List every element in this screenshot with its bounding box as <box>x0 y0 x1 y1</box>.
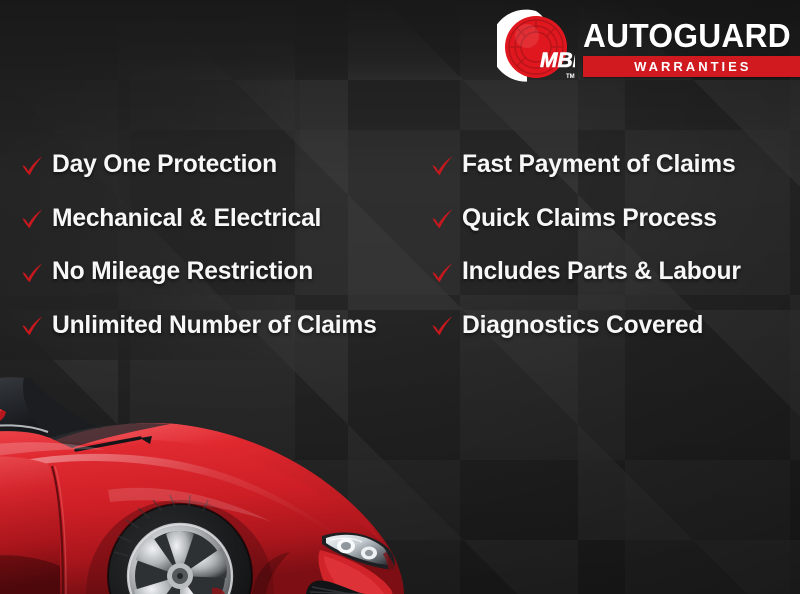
check-icon <box>20 153 44 179</box>
autoguard-warranties-banner: MBi TM AUTOGUARD WARRANTIES Day One Prot… <box>0 0 800 594</box>
check-icon <box>20 313 44 339</box>
check-icon <box>20 260 44 286</box>
feature-item: Day One Protection <box>20 138 435 192</box>
feature-column-right: Fast Payment of Claims Quick Claims Proc… <box>430 138 795 352</box>
autoguard-wordmark-block: AUTOGUARD WARRANTIES <box>583 17 800 77</box>
feature-item: Mechanical & Electrical <box>20 192 435 246</box>
warranties-label: WARRANTIES <box>631 60 751 73</box>
check-icon <box>430 153 454 179</box>
check-icon <box>430 206 454 232</box>
check-icon <box>430 313 454 339</box>
check-icon <box>430 260 454 286</box>
feature-label: No Mileage Restriction <box>52 259 313 284</box>
feature-item: No Mileage Restriction <box>20 245 435 299</box>
feature-label: Includes Parts & Labour <box>462 259 741 284</box>
feature-column-left: Day One Protection Mechanical & Electric… <box>20 138 435 352</box>
check-icon <box>20 206 44 232</box>
feature-item: Includes Parts & Labour <box>430 245 795 299</box>
warranties-bar: WARRANTIES <box>583 56 800 77</box>
feature-item: Quick Claims Process <box>430 192 795 246</box>
feature-list: Day One Protection Mechanical & Electric… <box>0 138 800 353</box>
feature-item: Fast Payment of Claims <box>430 138 795 192</box>
feature-label: Diagnostics Covered <box>462 313 703 338</box>
feature-label: Day One Protection <box>52 152 277 177</box>
mbi-wordmark: MBi <box>540 49 575 72</box>
autoguard-logo: MBi TM AUTOGUARD WARRANTIES <box>497 6 787 88</box>
autoguard-title: AUTOGUARD <box>583 19 791 52</box>
mbi-trademark: TM <box>566 74 575 80</box>
red-car-photo <box>0 344 510 594</box>
feature-label: Unlimited Number of Claims <box>52 313 377 338</box>
feature-label: Fast Payment of Claims <box>462 152 735 177</box>
mbi-logo-icon: MBi TM <box>497 8 575 86</box>
feature-label: Mechanical & Electrical <box>52 206 321 231</box>
feature-label: Quick Claims Process <box>462 206 717 231</box>
